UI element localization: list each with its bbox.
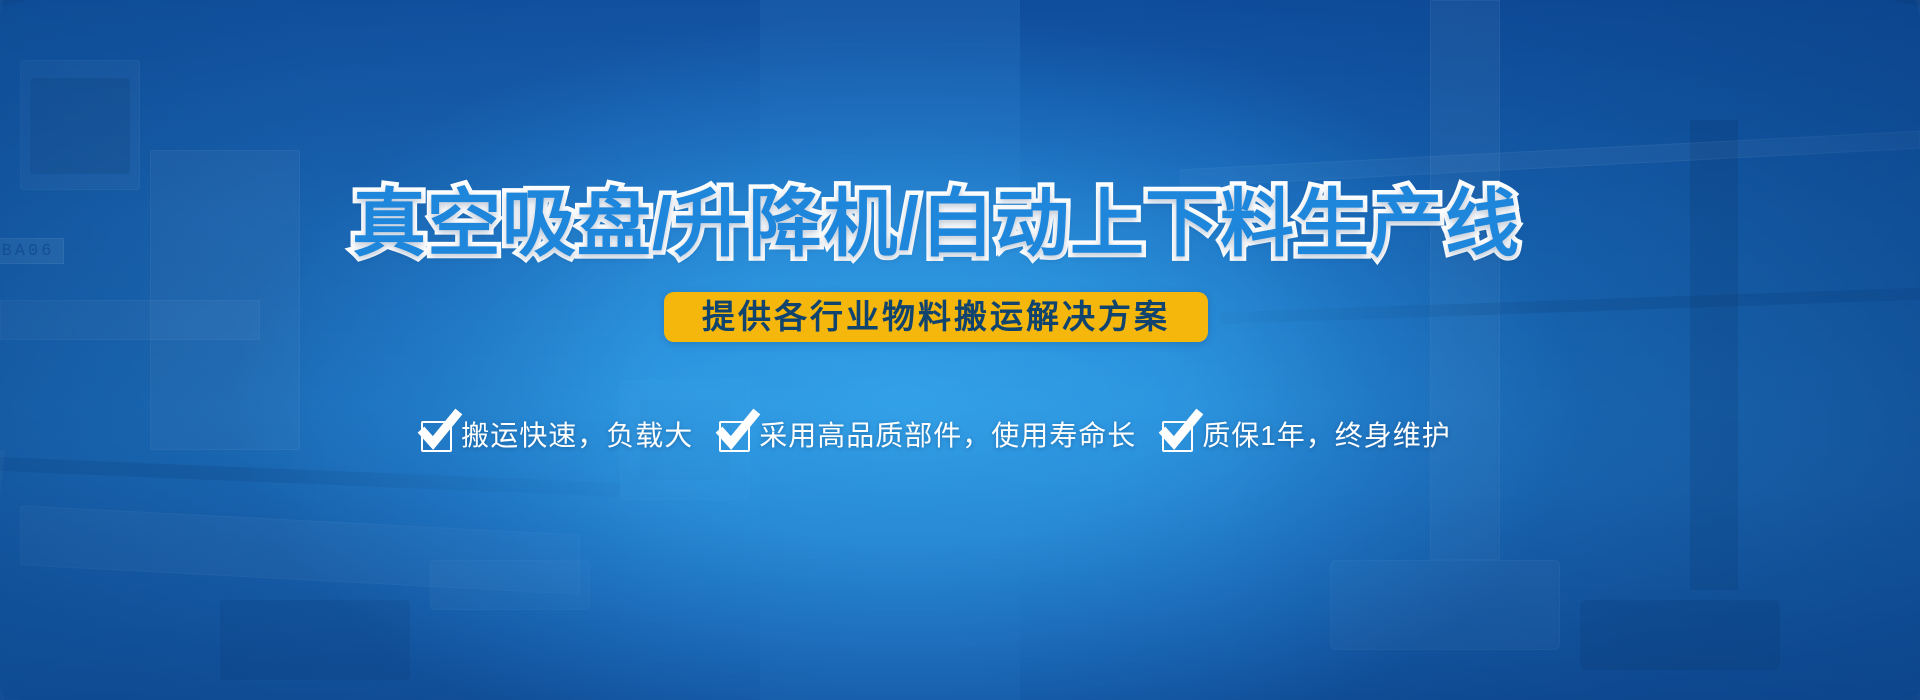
promo-banner: BA06 真空吸盘/升降机/自动上下料生产线 提供各行业物料搬运解决方案 (0, 0, 1920, 700)
feature-item-1: 搬运快速，负载大 (421, 420, 693, 452)
banner-subtitle-row: 提供各行业物料搬运解决方案 (0, 292, 1896, 342)
feature-item-3: 质保1年，终身维护 (1162, 420, 1451, 452)
banner-content: 真空吸盘/升降机/自动上下料生产线 提供各行业物料搬运解决方案 搬运快速，负载大 (0, 0, 1920, 700)
feature-list: 搬运快速，负载大 采用高品质部件，使用寿命长 质保1年，终身维护 (0, 420, 1896, 452)
feature-label-3: 质保1年，终身维护 (1202, 420, 1451, 452)
feature-item-2: 采用高品质部件，使用寿命长 (719, 420, 1136, 452)
banner-subtitle-badge: 提供各行业物料搬运解决方案 (664, 292, 1208, 342)
feature-label-1: 搬运快速，负载大 (461, 420, 693, 452)
checkbox-check-icon (1162, 421, 1193, 452)
checkbox-check-icon (421, 421, 452, 452)
checkbox-check-icon (719, 421, 750, 452)
banner-headline: 真空吸盘/升降机/自动上下料生产线 (0, 178, 1896, 270)
feature-label-2: 采用高品质部件，使用寿命长 (759, 420, 1136, 452)
